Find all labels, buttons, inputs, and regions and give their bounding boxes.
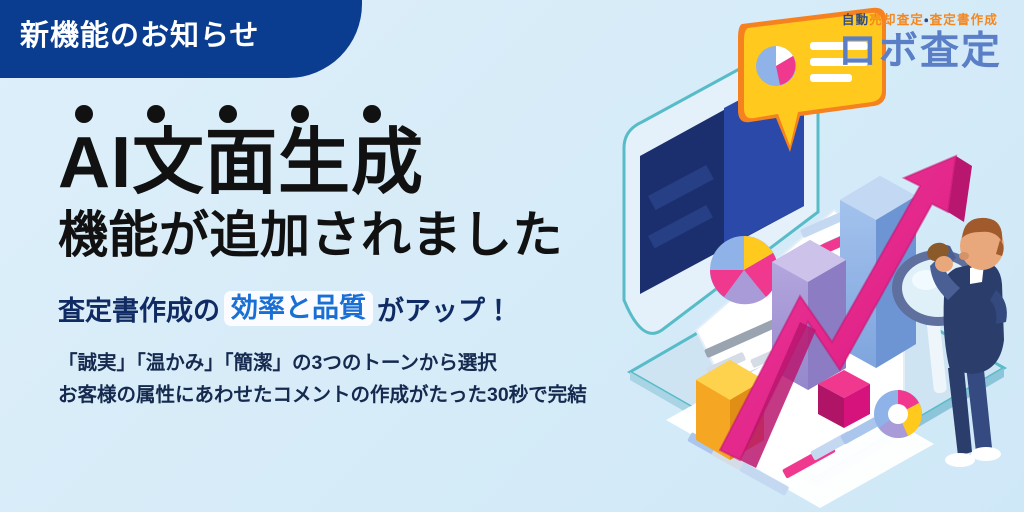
tagline-sale-assessment: 売却査定 [869,13,924,27]
new-feature-badge-label: 新機能のお知らせ [20,12,259,54]
tagline-highlight: 効率と品質 [224,291,373,325]
emphasis-dot [75,105,93,123]
emphasis-dot [363,105,381,123]
emphasis-dot [147,105,165,123]
feature-tagline: 査定書作成の効率と品質がアップ！ [58,289,678,328]
bullet-item: お客様の属性にあわせたコメントの作成がたった30秒で完結 [58,380,678,412]
emphasis-dot [219,105,237,123]
bubble-pie-icon [756,46,796,86]
brand-logo-tagline: 自動売却査定・査定書作成 [838,14,1002,27]
pie-chart [710,236,778,304]
donut-chart [874,390,922,438]
copy-column: AI文面生成 機能が追加されました 査定書作成の効率と品質がアップ！ 「誠実」「… [58,104,678,411]
tagline-suffix: がアップ！ [377,289,512,328]
brand-logo-wordmark: ロボ査定 [838,32,1002,71]
new-feature-badge: 新機能のお知らせ [0,0,362,78]
emphasis-dots [58,104,678,124]
tagline-prefix: 査定書作成の [58,289,220,328]
bullet-item: 「誠実」「温かみ」「簡潔」の3つのトーンから選択 [58,348,678,380]
tagline-report-creation: 査定書作成 [930,13,999,27]
brand-logo: 自動売却査定・査定書作成 ロボ査定 [838,14,1002,71]
headline-secondary: 機能が追加されました [58,208,678,263]
headline-primary: AI文面生成 [58,126,678,200]
tagline-auto: 自動 [842,13,869,27]
emphasis-dot [291,105,309,123]
bullet-list: 「誠実」「温かみ」「簡潔」の3つのトーンから選択 お客様の属性にあわせたコメント… [58,348,678,411]
promo-banner: 新機能のお知らせ 自動売却査定・査定書作成 ロボ査定 AI文面生成 機能が追加さ… [0,0,1024,512]
